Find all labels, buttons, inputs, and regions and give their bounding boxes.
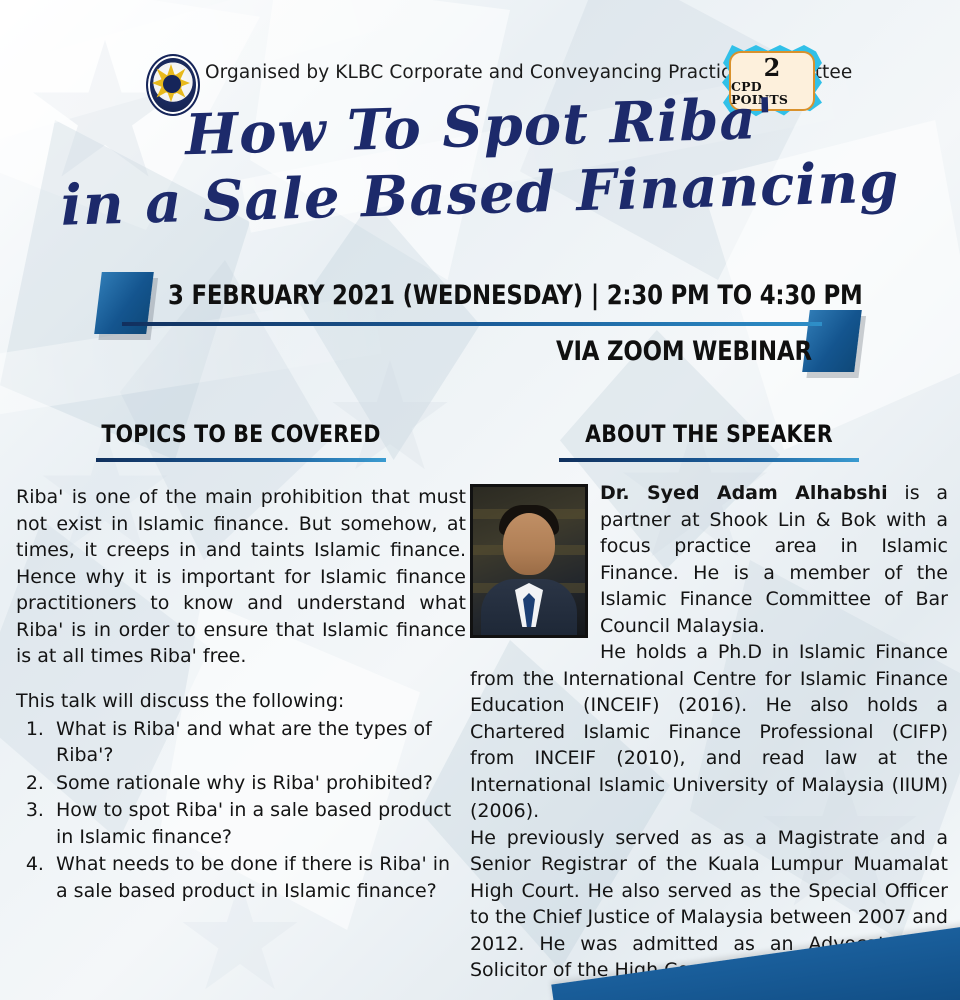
topics-lead-in: This talk will discuss the following:: [16, 690, 466, 712]
list-item: How to spot Riba' in a sale based produc…: [50, 797, 466, 850]
speaker-heading: ABOUT THE SPEAKER: [482, 420, 936, 448]
event-venue: VIA ZOOM WEBINAR: [556, 336, 857, 367]
speaker-bio-intro-rest: is a partner at Shook Lin & Bok with a f…: [600, 482, 948, 637]
topics-heading: TOPICS TO BE COVERED: [27, 420, 455, 448]
event-details-band: 3 FEBRUARY 2021 (WEDNESDAY) | 2:30 PM TO…: [0, 268, 960, 378]
speaker-heading-rule: [559, 458, 859, 462]
poster-title: How To Spot Riba' in a Sale Based Financ…: [0, 96, 960, 226]
speaker-bio-paragraph-2: He holds a Ph.D in Islamic Finance from …: [470, 639, 948, 825]
list-item: What needs to be done if there is Riba' …: [50, 851, 466, 904]
webinar-poster: Organised by KLBC Corporate and Conveyan…: [0, 0, 960, 1000]
topics-list: What is Riba' and what are the types of …: [16, 716, 466, 905]
speaker-intro-block: Dr. Syed Adam Alhabshi is a partner at S…: [470, 480, 948, 639]
speaker-column: ABOUT THE SPEAKER Dr. Syed Adam Alhabshi…: [470, 420, 948, 984]
event-date-time: 3 FEBRUARY 2021 (WEDNESDAY) | 2:30 PM TO…: [168, 280, 788, 311]
speaker-photo: [470, 484, 588, 638]
cpd-points-number: 2: [764, 56, 781, 80]
list-item: Some rationale why is Riba' prohibited?: [50, 770, 466, 797]
list-item: What is Riba' and what are the types of …: [50, 716, 466, 769]
band-divider-rule: [122, 322, 822, 326]
organiser-text: Organised by KLBC Corporate and Conveyan…: [205, 62, 725, 83]
topics-heading-rule: [96, 458, 386, 462]
topics-column: TOPICS TO BE COVERED Riba' is one of the…: [16, 420, 466, 905]
topics-intro-paragraph: Riba' is one of the main prohibition tha…: [16, 484, 466, 670]
poster-header: Organised by KLBC Corporate and Conveyan…: [0, 24, 960, 94]
speaker-name: Dr. Syed Adam Alhabshi: [600, 482, 888, 504]
